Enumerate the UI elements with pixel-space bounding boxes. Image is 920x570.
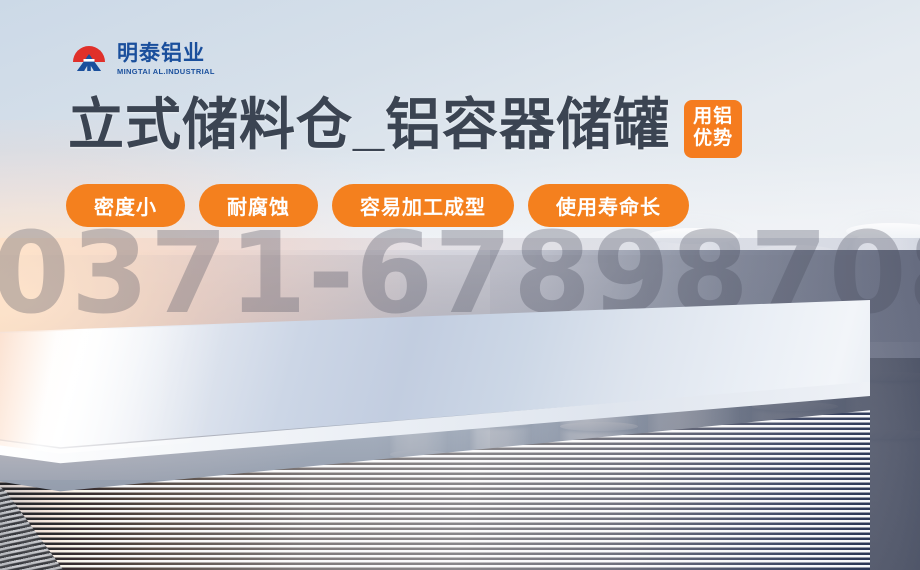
mingtai-logo-icon: [68, 38, 110, 80]
logo-wordmark: 明泰铝业 MINGTAI AL.INDUSTRIAL: [117, 43, 215, 76]
company-logo[interactable]: 明泰铝业 MINGTAI AL.INDUSTRIAL: [68, 38, 215, 80]
feature-pill-formability[interactable]: 容易加工成型: [332, 184, 514, 227]
logo-english-name: MINGTAI AL.INDUSTRIAL: [117, 68, 215, 76]
product-banner: 0371-67898708 明泰铝业 MINGTAI: [0, 0, 920, 570]
feature-pill-corrosion[interactable]: 耐腐蚀: [199, 184, 318, 227]
feature-pill-lifespan[interactable]: 使用寿命长: [528, 184, 689, 227]
badge-line-1: 用铝: [693, 106, 733, 128]
feature-pill-density[interactable]: 密度小: [66, 184, 185, 227]
aluminium-advantage-badge: 用铝 优势: [684, 100, 742, 158]
banner-content: 明泰铝业 MINGTAI AL.INDUSTRIAL 立式储料仓_铝容器储罐 用…: [0, 0, 920, 570]
logo-chinese-name: 明泰铝业: [117, 43, 215, 64]
badge-line-2: 优势: [693, 128, 733, 150]
headline-row: 立式储料仓_铝容器储罐 用铝 优势: [68, 96, 742, 158]
page-title: 立式储料仓_铝容器储罐: [68, 96, 670, 155]
feature-pill-list: 密度小 耐腐蚀 容易加工成型 使用寿命长: [66, 184, 689, 227]
